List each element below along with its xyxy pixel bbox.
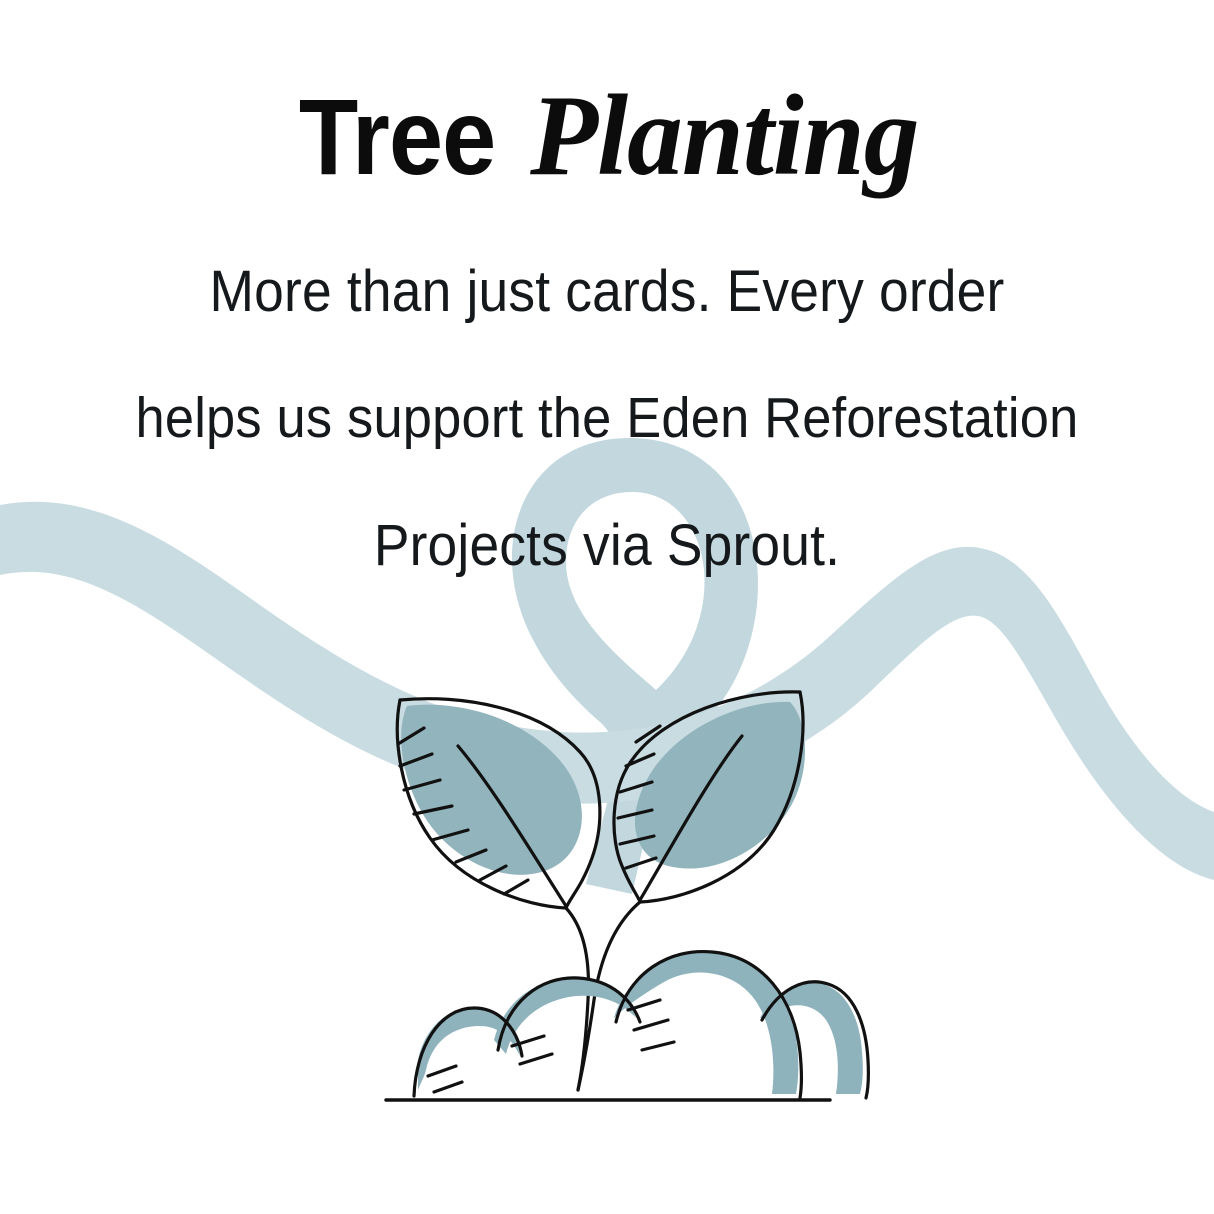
title-word-italic: Planting [530,78,918,194]
title-word-bold: Tree [299,83,495,191]
body-line-2: helps us support the Eden Reforestation [49,385,1166,451]
poster-canvas: TreePlanting More than just cards. Every… [0,0,1214,1214]
page-title: TreePlanting [0,78,1214,194]
body-line-1: More than just cards. Every order [49,258,1166,325]
body-line-3: Projects via Sprout. [49,512,1166,579]
